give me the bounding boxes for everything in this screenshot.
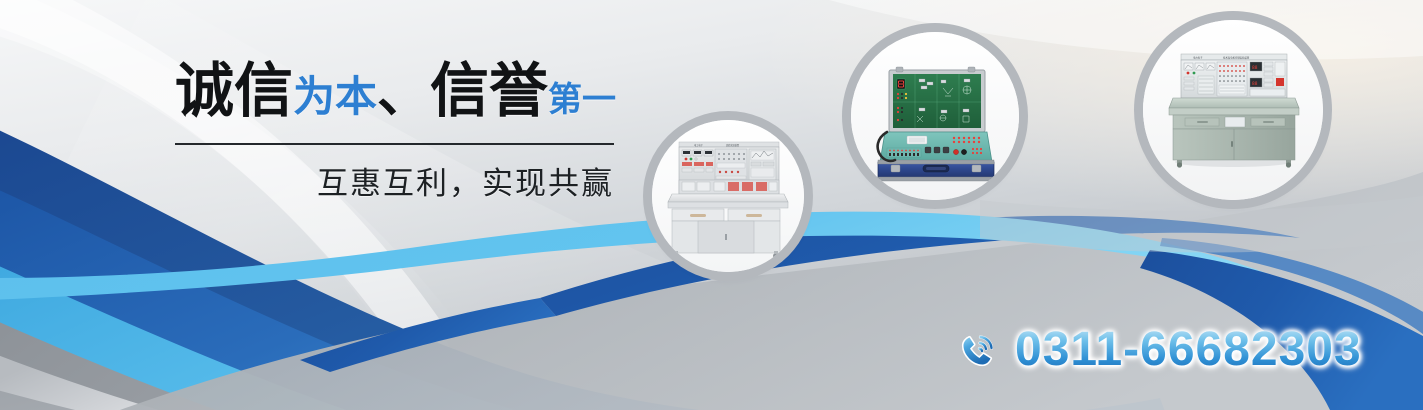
product-circle-3[interactable]: 电力电子 技术及电机控制实验装置 [1143,20,1323,200]
electrical-experiment-bench-image: 电力电子 技术及电机控制实验装置 [1143,20,1323,200]
headline-part-2: 为本 [293,73,377,120]
svg-text:88: 88 [1252,81,1258,87]
svg-text:技术及电机控制实验装置: 技术及电机控制实验装置 [1223,56,1250,60]
portable-electronics-trainer-case-image [851,32,1019,200]
subtitle: 互惠互利，实现共赢 [175,158,614,203]
headline-part-4: 信誉 [430,58,548,124]
svg-text:电力电子: 电力电子 [1193,56,1203,60]
svg-text:88: 88 [1252,65,1258,71]
headline-block: 诚信为本、信誉第一 [175,62,695,121]
contact-block[interactable]: 0311-66682303 [955,326,1362,374]
phone-call-icon[interactable] [955,327,1001,373]
phone-number[interactable]: 0311-66682303 [1015,326,1362,374]
product-circle-1[interactable]: 电工电子实验实训装置 [652,120,804,272]
page-title: 诚信为本、信誉第一 [175,62,695,121]
product-circle-2[interactable] [851,32,1019,200]
electrical-training-workbench-image: 电工电子实验实训装置 [652,120,804,272]
headline-divider [175,143,614,145]
headline-separator: 、 [377,64,430,123]
promo-banner: 诚信为本、信誉第一 互惠互利，实现共赢 电工电子实验实训装置 [0,0,1423,410]
headline-part-1: 诚信 [175,58,293,124]
headline-part-5: 第一 [548,81,616,119]
